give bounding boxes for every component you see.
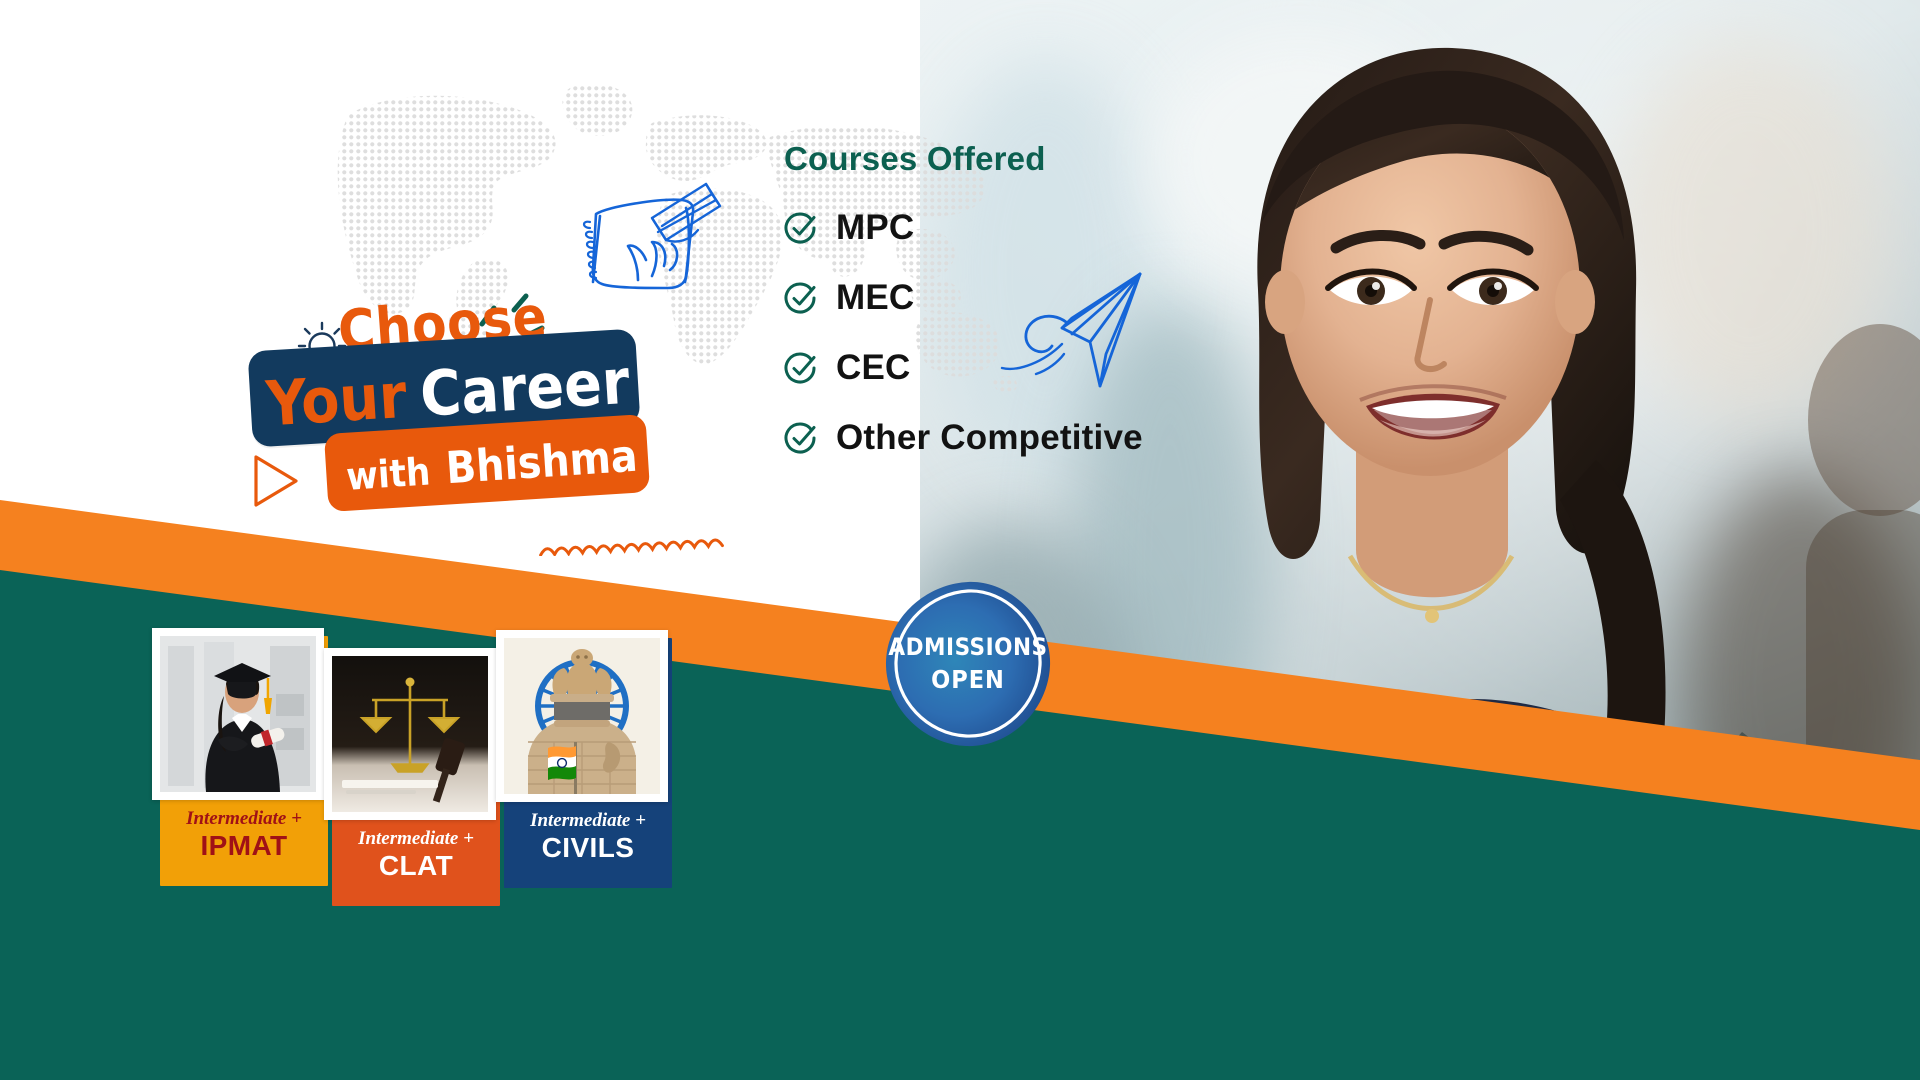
card-title: CIVILS <box>504 832 672 864</box>
badge-text: ADMISSIONS OPEN <box>882 578 1054 750</box>
headline-bhishma: Bhishma <box>444 431 639 495</box>
card-title: IPMAT <box>160 830 328 862</box>
card-photo-frame <box>496 630 668 802</box>
course-item-cec: CEC <box>784 348 1254 388</box>
graduate-student-photo <box>160 636 316 792</box>
course-cards: Intermediate + IPMAT <box>160 614 780 894</box>
course-label: MPC <box>836 208 914 248</box>
card-photo-frame <box>324 648 496 820</box>
card-subtitle: Intermediate + <box>160 808 328 830</box>
badge-line1: ADMISSIONS <box>888 632 1047 664</box>
card-caption: Intermediate + CIVILS <box>504 810 672 864</box>
course-item-other-competitive: Other Competitive <box>784 418 1254 458</box>
headline-your: Your <box>264 359 409 441</box>
courses-title: Courses Offered <box>784 140 1254 178</box>
courses-offered-section: Courses Offered MPC MEC CEC <box>784 140 1254 458</box>
circle-check-icon <box>784 351 818 385</box>
card-caption: Intermediate + IPMAT <box>160 808 328 862</box>
circle-check-icon <box>784 421 818 455</box>
card-photo-frame <box>152 628 324 800</box>
course-item-mec: MEC <box>784 278 1254 318</box>
card-subtitle: Intermediate + <box>504 810 672 832</box>
banner-root: Choose YourCareer withBhishma Courses Of… <box>0 0 1920 1080</box>
headline-with: with <box>345 449 432 498</box>
course-label: MEC <box>836 278 914 318</box>
notebook-pencil-doodle-icon <box>566 172 736 300</box>
course-label: CEC <box>836 348 911 388</box>
badge-line2: OPEN <box>931 663 1005 696</box>
card-title: CLAT <box>332 850 500 882</box>
ashoka-emblem-photo <box>504 638 660 794</box>
circle-check-icon <box>784 211 818 245</box>
card-caption: Intermediate + CLAT <box>332 828 500 882</box>
course-label: Other Competitive <box>836 418 1143 458</box>
headline-lockup: Choose YourCareer withBhishma <box>238 292 718 542</box>
scales-of-justice-photo <box>332 656 488 812</box>
card-subtitle: Intermediate + <box>332 828 500 850</box>
course-item-mpc: MPC <box>784 208 1254 248</box>
circle-check-icon <box>784 281 818 315</box>
admissions-open-badge[interactable]: ADMISSIONS OPEN <box>882 578 1054 750</box>
